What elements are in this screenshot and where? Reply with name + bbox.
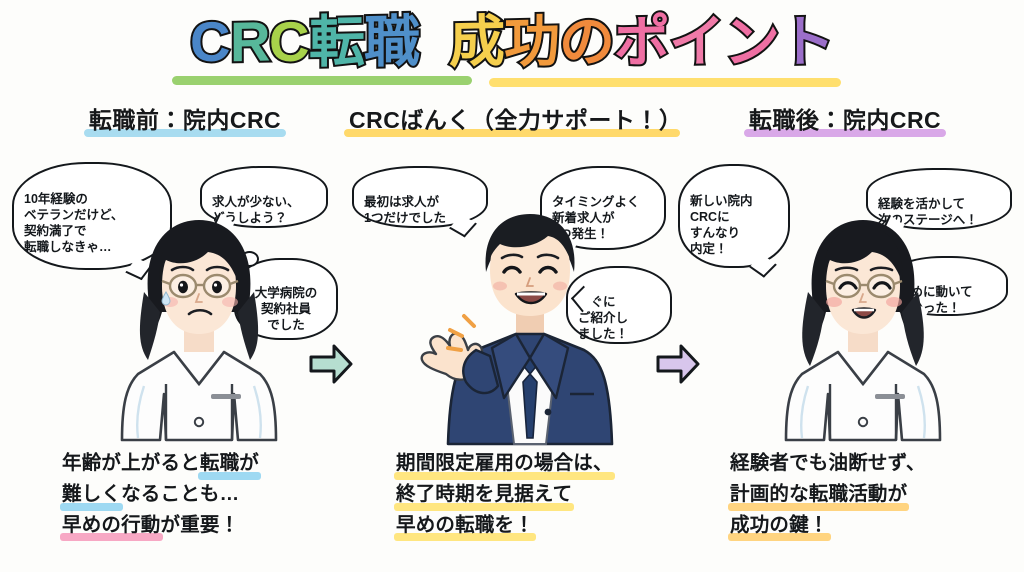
caption-highlight: 難しく bbox=[62, 479, 121, 510]
title-char: 転 bbox=[309, 13, 364, 70]
caption-text: 経験者でも油断せず、 bbox=[730, 452, 926, 474]
caption-text: なることも… bbox=[121, 483, 239, 505]
caption-highlight: 終了時期を見据えて bbox=[396, 479, 572, 510]
caption-highlight: 期間限定雇用の場合は、 bbox=[396, 448, 613, 479]
male-advisor bbox=[420, 198, 635, 453]
caption-highlight: 計画的な転職活動が bbox=[730, 479, 907, 510]
column-heading-before-text: 転職前：院内CRC bbox=[87, 104, 283, 136]
title-underline-left bbox=[172, 76, 472, 85]
bubble-offer-accepted-text: 新しい院内 CRCに すんなり 内定！ bbox=[690, 194, 753, 256]
caption-text: が重要！ bbox=[161, 514, 240, 536]
title-char: 成 bbox=[449, 13, 504, 70]
caption-line: 早めの転職を！ bbox=[396, 510, 613, 541]
caption-highlight: 早めの転職を！ bbox=[396, 510, 534, 541]
column-heading-crcbank-text: CRCばんく（全力サポート！） bbox=[347, 104, 677, 136]
caption-text: 年齢が上がると bbox=[62, 452, 200, 474]
woman-after-crc bbox=[768, 208, 958, 453]
title-char: C bbox=[269, 14, 308, 71]
caption-highlight: 転職が bbox=[200, 448, 259, 479]
title-char: C bbox=[190, 14, 229, 71]
caption-line: 計画的な転職活動が bbox=[730, 479, 926, 510]
caption-line: 成功の鍵！ bbox=[730, 510, 926, 541]
column-heading-before: 転職前：院内CRC bbox=[20, 104, 350, 138]
caption-crcbank: 期間限定雇用の場合は、終了時期を見据えて早めの転職を！ bbox=[396, 448, 613, 540]
woman-before-crc bbox=[104, 208, 294, 453]
caption-after: 経験者でも油断せず、計画的な転職活動が成功の鍵！ bbox=[730, 448, 926, 540]
page-title: CRC転職成功のポイント bbox=[0, 14, 1024, 70]
caption-highlight: 早めの行動 bbox=[62, 510, 161, 541]
title-char: ト bbox=[779, 13, 834, 70]
column-heading-after: 転職後：院内CRC bbox=[680, 104, 1010, 138]
column-heading-after-text: 転職後：院内CRC bbox=[747, 104, 943, 136]
caption-line: 早めの行動が重要！ bbox=[62, 510, 259, 541]
caption-line: 経験者でも油断せず、 bbox=[730, 448, 926, 479]
title-char: ポ bbox=[614, 13, 669, 70]
title-char: の bbox=[559, 13, 614, 70]
infographic-canvas: CRC転職成功のポイント 転職前：院内CRC 10年経験の ベテランだけど、 契… bbox=[0, 0, 1024, 572]
caption-before: 年齢が上がると転職が難しくなることも…早めの行動が重要！ bbox=[62, 448, 259, 540]
caption-line: 年齢が上がると転職が bbox=[62, 448, 259, 479]
title-char: イ bbox=[669, 13, 724, 70]
title-char: R bbox=[230, 14, 269, 71]
title-char: 職 bbox=[364, 13, 419, 70]
title-char: ン bbox=[724, 13, 779, 70]
column-heading-crcbank: CRCばんく（全力サポート！） bbox=[347, 104, 677, 138]
title-underline-right bbox=[489, 78, 841, 87]
caption-line: 難しくなることも… bbox=[62, 479, 259, 510]
caption-line: 終了時期を見据えて bbox=[396, 479, 613, 510]
title-char: 功 bbox=[504, 13, 559, 70]
caption-line: 期間限定雇用の場合は、 bbox=[396, 448, 613, 479]
caption-highlight: 成功の鍵！ bbox=[730, 510, 829, 541]
